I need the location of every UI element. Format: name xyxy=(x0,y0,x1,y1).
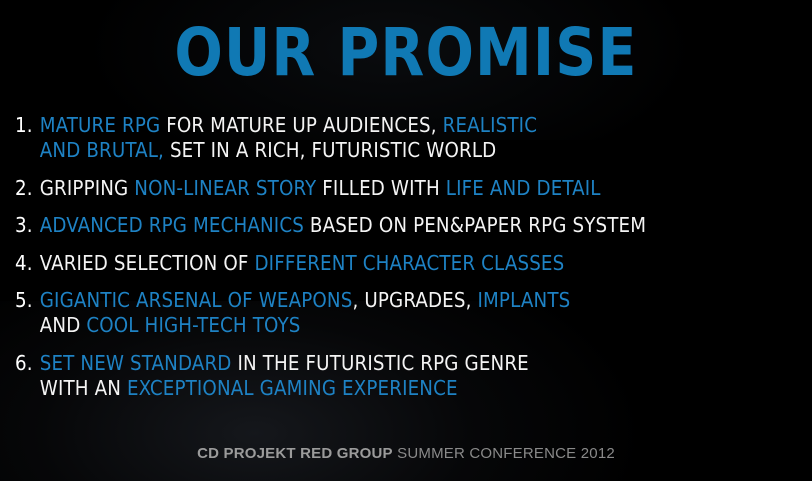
list-item: 5.GIGANTIC ARSENAL OF WEAPONS, UPGRADES,… xyxy=(15,288,797,338)
highlight-text: MATURE RPG xyxy=(40,113,161,137)
list-item-number: 4. xyxy=(15,251,33,276)
body-text: VARIED SELECTION OF xyxy=(40,251,255,275)
list-item-number: 2. xyxy=(15,176,33,201)
presentation-slide: OUR PROMISE 1.MATURE RPG FOR MATURE UP A… xyxy=(0,0,812,481)
list-item-line: SET NEW STANDARD IN THE FUTURISTIC RPG G… xyxy=(40,351,529,375)
list-item-number: 1. xyxy=(15,113,33,138)
highlight-text: ADVANCED RPG MECHANICS xyxy=(40,213,304,237)
highlight-text: GIGANTIC ARSENAL OF WEAPONS xyxy=(40,288,353,312)
list-item-number: 5. xyxy=(15,288,33,313)
highlight-text: AND BRUTAL, xyxy=(40,138,164,162)
body-text: IN THE FUTURISTIC RPG GENRE xyxy=(232,351,529,375)
footer-brand-label: CD PROJEKT RED GROUP xyxy=(197,445,393,462)
list-item-line: ADVANCED RPG MECHANICS BASED ON PEN&PAPE… xyxy=(40,213,646,237)
body-text: FOR MATURE UP AUDIENCES, xyxy=(160,113,442,137)
list-item-line: VARIED SELECTION OF DIFFERENT CHARACTER … xyxy=(40,251,565,275)
highlight-text: COOL HIGH-TECH TOYS xyxy=(86,313,300,337)
body-text: GRIPPING xyxy=(40,176,135,200)
list-item: 4.VARIED SELECTION OF DIFFERENT CHARACTE… xyxy=(15,251,797,276)
slide-footer: CD PROJEKT RED GROUP SUMMER CONFERENCE 2… xyxy=(0,445,812,463)
list-item-line: MATURE RPG FOR MATURE UP AUDIENCES, REAL… xyxy=(40,113,537,137)
body-text: , UPGRADES, xyxy=(352,288,477,312)
list-item-line: GRIPPING NON-LINEAR STORY FILLED WITH LI… xyxy=(40,176,601,200)
body-text: AND xyxy=(40,313,87,337)
list-item-line: WITH AN EXCEPTIONAL GAMING EXPERIENCE xyxy=(40,376,797,401)
highlight-text: SET NEW STANDARD xyxy=(40,351,232,375)
list-item: 3.ADVANCED RPG MECHANICS BASED ON PEN&PA… xyxy=(15,213,797,238)
body-text: WITH AN xyxy=(40,376,127,400)
list-item-line: AND BRUTAL, SET IN A RICH, FUTURISTIC WO… xyxy=(40,138,797,163)
body-text: FILLED WITH xyxy=(316,176,445,200)
body-text: BASED ON PEN&PAPER RPG SYSTEM xyxy=(304,213,646,237)
promise-list: 1.MATURE RPG FOR MATURE UP AUDIENCES, RE… xyxy=(15,113,805,413)
list-item: 6.SET NEW STANDARD IN THE FUTURISTIC RPG… xyxy=(15,351,797,401)
body-text: SET IN A RICH, FUTURISTIC WORLD xyxy=(164,138,496,162)
list-item-line: AND COOL HIGH-TECH TOYS xyxy=(40,313,797,338)
list-item: 1.MATURE RPG FOR MATURE UP AUDIENCES, RE… xyxy=(15,113,797,163)
page-title: OUR PROMISE xyxy=(16,17,796,89)
highlight-text: NON-LINEAR STORY xyxy=(134,176,316,200)
list-item-number: 3. xyxy=(15,213,33,238)
highlight-text: IMPLANTS xyxy=(478,288,571,312)
list-item-number: 6. xyxy=(15,351,33,376)
highlight-text: EXCEPTIONAL GAMING EXPERIENCE xyxy=(127,376,458,400)
highlight-text: REALISTIC xyxy=(443,113,537,137)
highlight-text: DIFFERENT CHARACTER CLASSES xyxy=(254,251,564,275)
list-item-line: GIGANTIC ARSENAL OF WEAPONS, UPGRADES, I… xyxy=(40,288,571,312)
highlight-text: LIFE AND DETAIL xyxy=(446,176,601,200)
list-item: 2.GRIPPING NON-LINEAR STORY FILLED WITH … xyxy=(15,176,797,201)
footer-event-label: SUMMER CONFERENCE 2012 xyxy=(397,445,615,462)
